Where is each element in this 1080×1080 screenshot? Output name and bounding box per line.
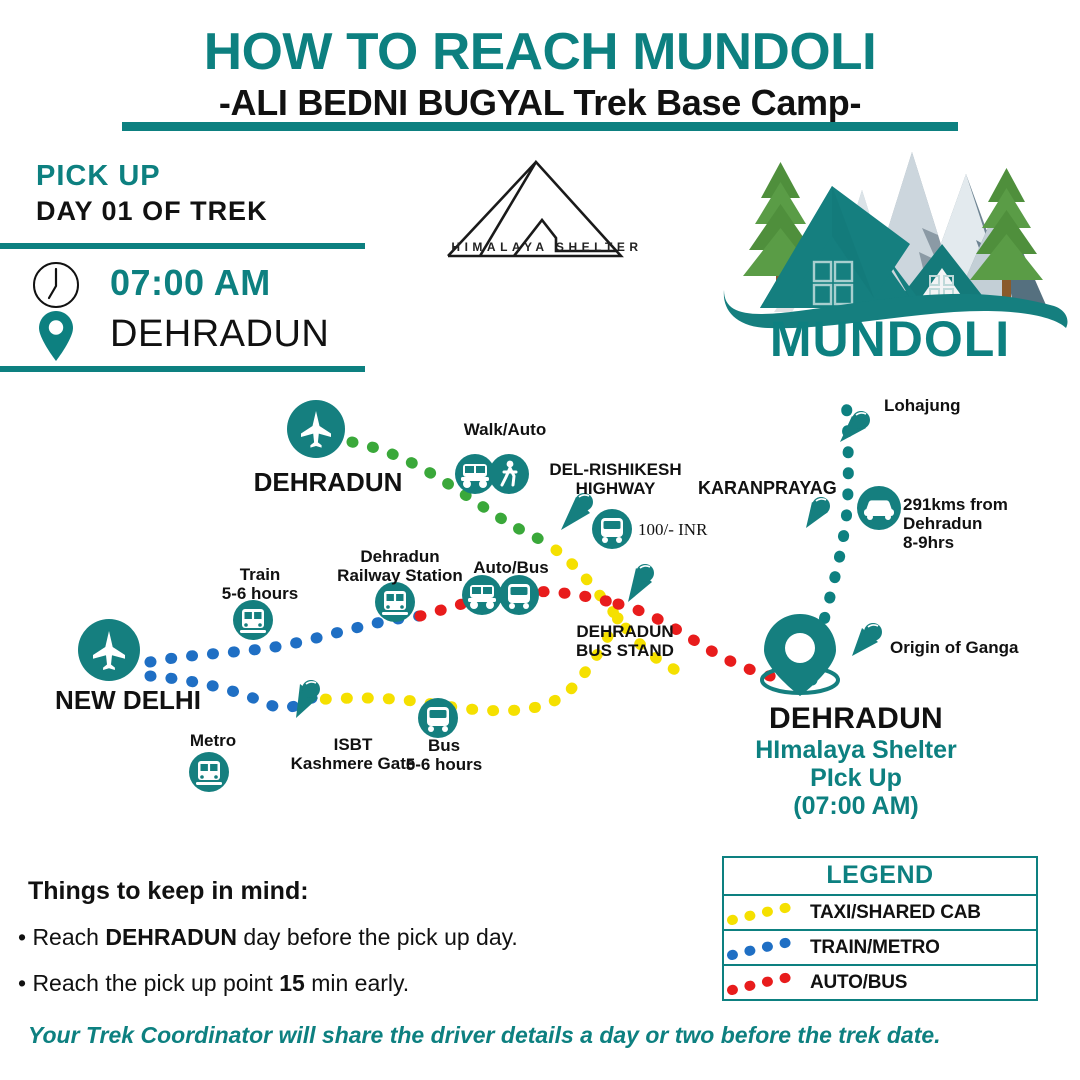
label-bus-line2: 5-6 hours: [392, 755, 496, 774]
label-dehradun-railway-station: Dehradun Railway Station: [330, 547, 470, 585]
legend-swatch-auto-icon: [724, 966, 810, 999]
destination-pickup-label: PIck Up: [676, 764, 1036, 792]
title-divider: [122, 122, 958, 131]
note-item-1: • Reach DEHRADUN day before the pick up …: [18, 924, 518, 951]
label-distance-from-dehradun: 291kms from Dehradun 8-9hrs: [903, 495, 1080, 552]
label-bus-line1: Bus: [392, 736, 496, 755]
label-dehradun-airport: DEHRADUN: [248, 468, 408, 497]
legend-row-taxi: TAXI/SHARED CAB: [724, 896, 1036, 931]
train-icon: [233, 600, 273, 640]
train-icon-railway-station: [375, 582, 415, 622]
label-distance-line1: 291kms from Dehradun: [903, 495, 1080, 533]
mundoli-village-illustration-icon: [714, 140, 1074, 330]
pickup-divider-top: [0, 243, 365, 249]
location-pin-icon: [38, 310, 74, 362]
legend-row-auto: AUTO/BUS: [724, 966, 1036, 999]
legend-swatch-train-icon: [724, 931, 810, 964]
note2-prefix: • Reach the pick up point: [18, 970, 279, 996]
pickup-time: 07:00 AM: [110, 262, 271, 304]
logo-wordmark: HIMALAYA SHELTER: [432, 240, 662, 254]
map-pin-icon-ganga: [852, 623, 882, 656]
destination-pickup-time: (07:00 AM): [676, 792, 1036, 820]
note2-emphasis: 15: [279, 970, 305, 996]
label-train: Train 5-6 hours: [205, 565, 315, 603]
infographic-canvas: HOW TO REACH MUNDOLI -ALI BEDNI BUGYAL T…: [0, 0, 1080, 1080]
page-title: HOW TO REACH MUNDOLI: [0, 22, 1080, 82]
label-del-rishikesh-highway: DEL-RISHIKESH HIGHWAY: [528, 460, 703, 498]
pickup-heading: PICK UP: [36, 160, 161, 193]
pickup-location: DEHRADUN: [110, 313, 329, 356]
legend-label-train: TRAIN/METRO: [810, 937, 940, 959]
label-auto-bus: Auto/Bus: [456, 558, 566, 577]
metro-icon: [189, 752, 229, 792]
himalaya-shelter-logo-icon: [432, 152, 662, 272]
note1-emphasis: DEHRADUN: [105, 924, 237, 950]
label-highway-line2: HIGHWAY: [528, 479, 703, 498]
label-karanprayag: KARANPRAYAG: [698, 478, 866, 498]
legend-row-train: TRAIN/METRO: [724, 931, 1036, 966]
label-new-delhi: NEW DELHI: [38, 686, 218, 715]
label-dehradun-bus-stand: DEHRADUN BUS STAND: [560, 622, 690, 660]
pickup-divider-bottom: [0, 366, 365, 372]
map-pin-icon-busstand: [628, 564, 654, 602]
label-train-line2: 5-6 hours: [205, 584, 315, 603]
label-busstand-line1: DEHRADUN: [560, 622, 690, 641]
bus-icon-fare: [592, 509, 632, 549]
airplane-icon-dehradun: [287, 400, 345, 458]
clock-icon: [32, 261, 80, 309]
label-bus-duration: Bus 5-6 hours: [392, 736, 496, 774]
note1-prefix: • Reach: [18, 924, 105, 950]
pickup-day-label: DAY 01 OF TREK: [36, 196, 268, 227]
label-metro: Metro: [175, 731, 251, 750]
legend-label-auto: AUTO/BUS: [810, 972, 907, 994]
map-pin-icon-highway: [561, 493, 593, 530]
map-pin-icon-isbt: [296, 680, 320, 718]
label-origin-of-ganga: Origin of Ganga: [890, 638, 1030, 657]
legend-swatch-taxi-icon: [724, 896, 810, 929]
legend: LEGEND TAXI/SHARED CAB TRAIN/METRO AUTO/…: [722, 856, 1038, 1001]
route-blue-train: [150, 616, 420, 662]
label-walk-auto: Walk/Auto: [440, 420, 570, 439]
bus-icon-autobus: [499, 575, 539, 615]
page-subtitle: -ALI BEDNI BUGYAL Trek Base Camp-: [0, 82, 1080, 124]
label-distance-line2: 8-9hrs: [903, 533, 1080, 552]
mundoli-label: MUNDOLI: [700, 310, 1080, 368]
destination-city: DEHRADUN: [676, 702, 1036, 736]
label-drs-line1: Dehradun: [330, 547, 470, 566]
label-lohajung: Lohajung: [884, 396, 1024, 415]
bus-icon-delhi-bus: [418, 698, 458, 738]
label-drs-line2: Railway Station: [330, 566, 470, 585]
label-bus-fare: 100/- INR: [638, 520, 728, 539]
note-item-2: • Reach the pick up point 15 min early.: [18, 970, 409, 997]
map-pin-icon-karanprayag: [806, 497, 830, 528]
coordinator-note: Your Trek Coordinator will share the dri…: [28, 1022, 941, 1049]
label-highway-line1: DEL-RISHIKESH: [528, 460, 703, 479]
legend-title: LEGEND: [724, 858, 1036, 896]
note1-suffix: day before the pick up day.: [237, 924, 518, 950]
label-busstand-line2: BUS STAND: [560, 641, 690, 660]
walking-person-icon: [489, 454, 529, 494]
destination-pin-icon: [762, 614, 838, 696]
legend-label-taxi: TAXI/SHARED CAB: [810, 902, 981, 924]
destination-operator: HImalaya Shelter: [676, 736, 1036, 764]
note2-suffix: min early.: [305, 970, 409, 996]
label-train-line1: Train: [205, 565, 315, 584]
notes-title: Things to keep in mind:: [28, 877, 309, 906]
destination-info-block: DEHRADUN HImalaya Shelter PIck Up (07:00…: [676, 702, 1036, 820]
airplane-icon-newdelhi: [78, 619, 140, 681]
